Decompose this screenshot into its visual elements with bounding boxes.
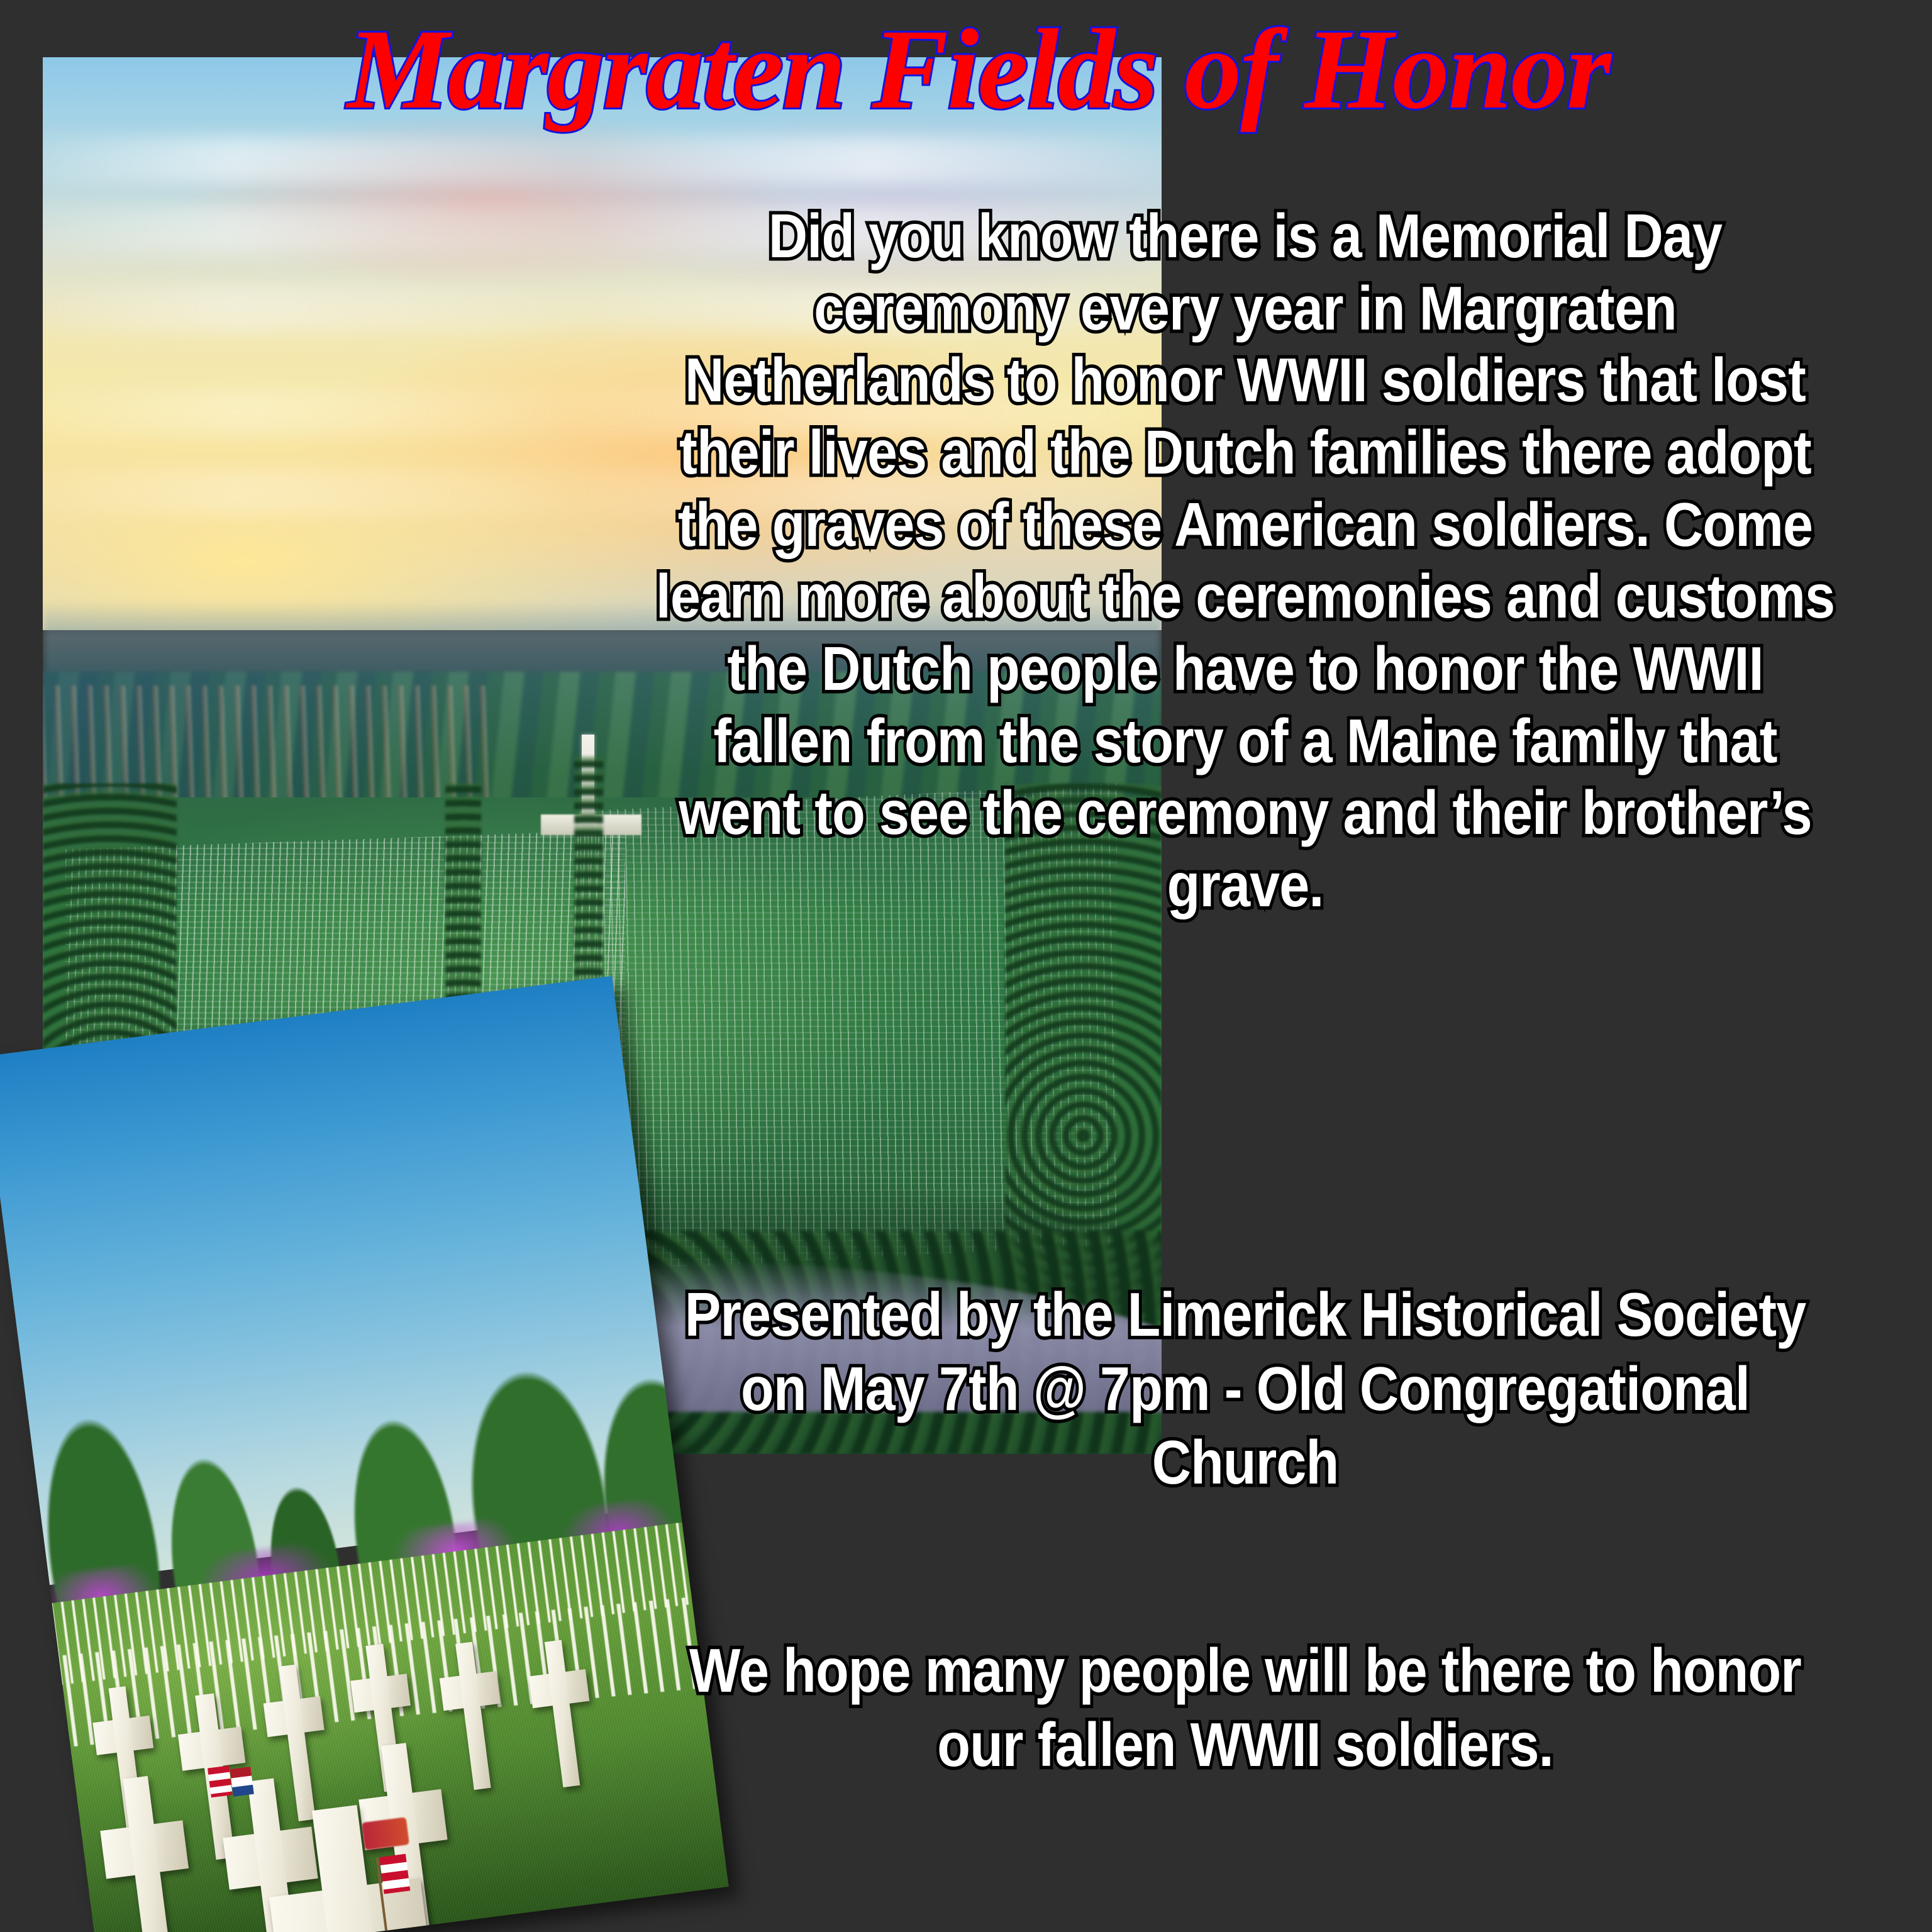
closing-paragraph: We hope many people will be there to hon… xyxy=(680,1634,1809,1782)
intro-paragraph: Did you know there is a Memorial Day cer… xyxy=(656,200,1835,921)
flower-wreath xyxy=(362,1817,409,1850)
american-flag xyxy=(379,1854,410,1894)
cloud-band xyxy=(43,137,1162,183)
american-flag xyxy=(208,1765,233,1797)
event-details-paragraph: Presented by the Limerick Historical Soc… xyxy=(680,1278,1809,1500)
page-title: Margraten Fields of Honor xyxy=(0,13,1932,127)
poster-canvas: Margraten Fields of Honor Did you know t… xyxy=(0,0,1932,1932)
inset-graves-photo xyxy=(0,976,729,1932)
dutch-flag xyxy=(230,1767,254,1797)
